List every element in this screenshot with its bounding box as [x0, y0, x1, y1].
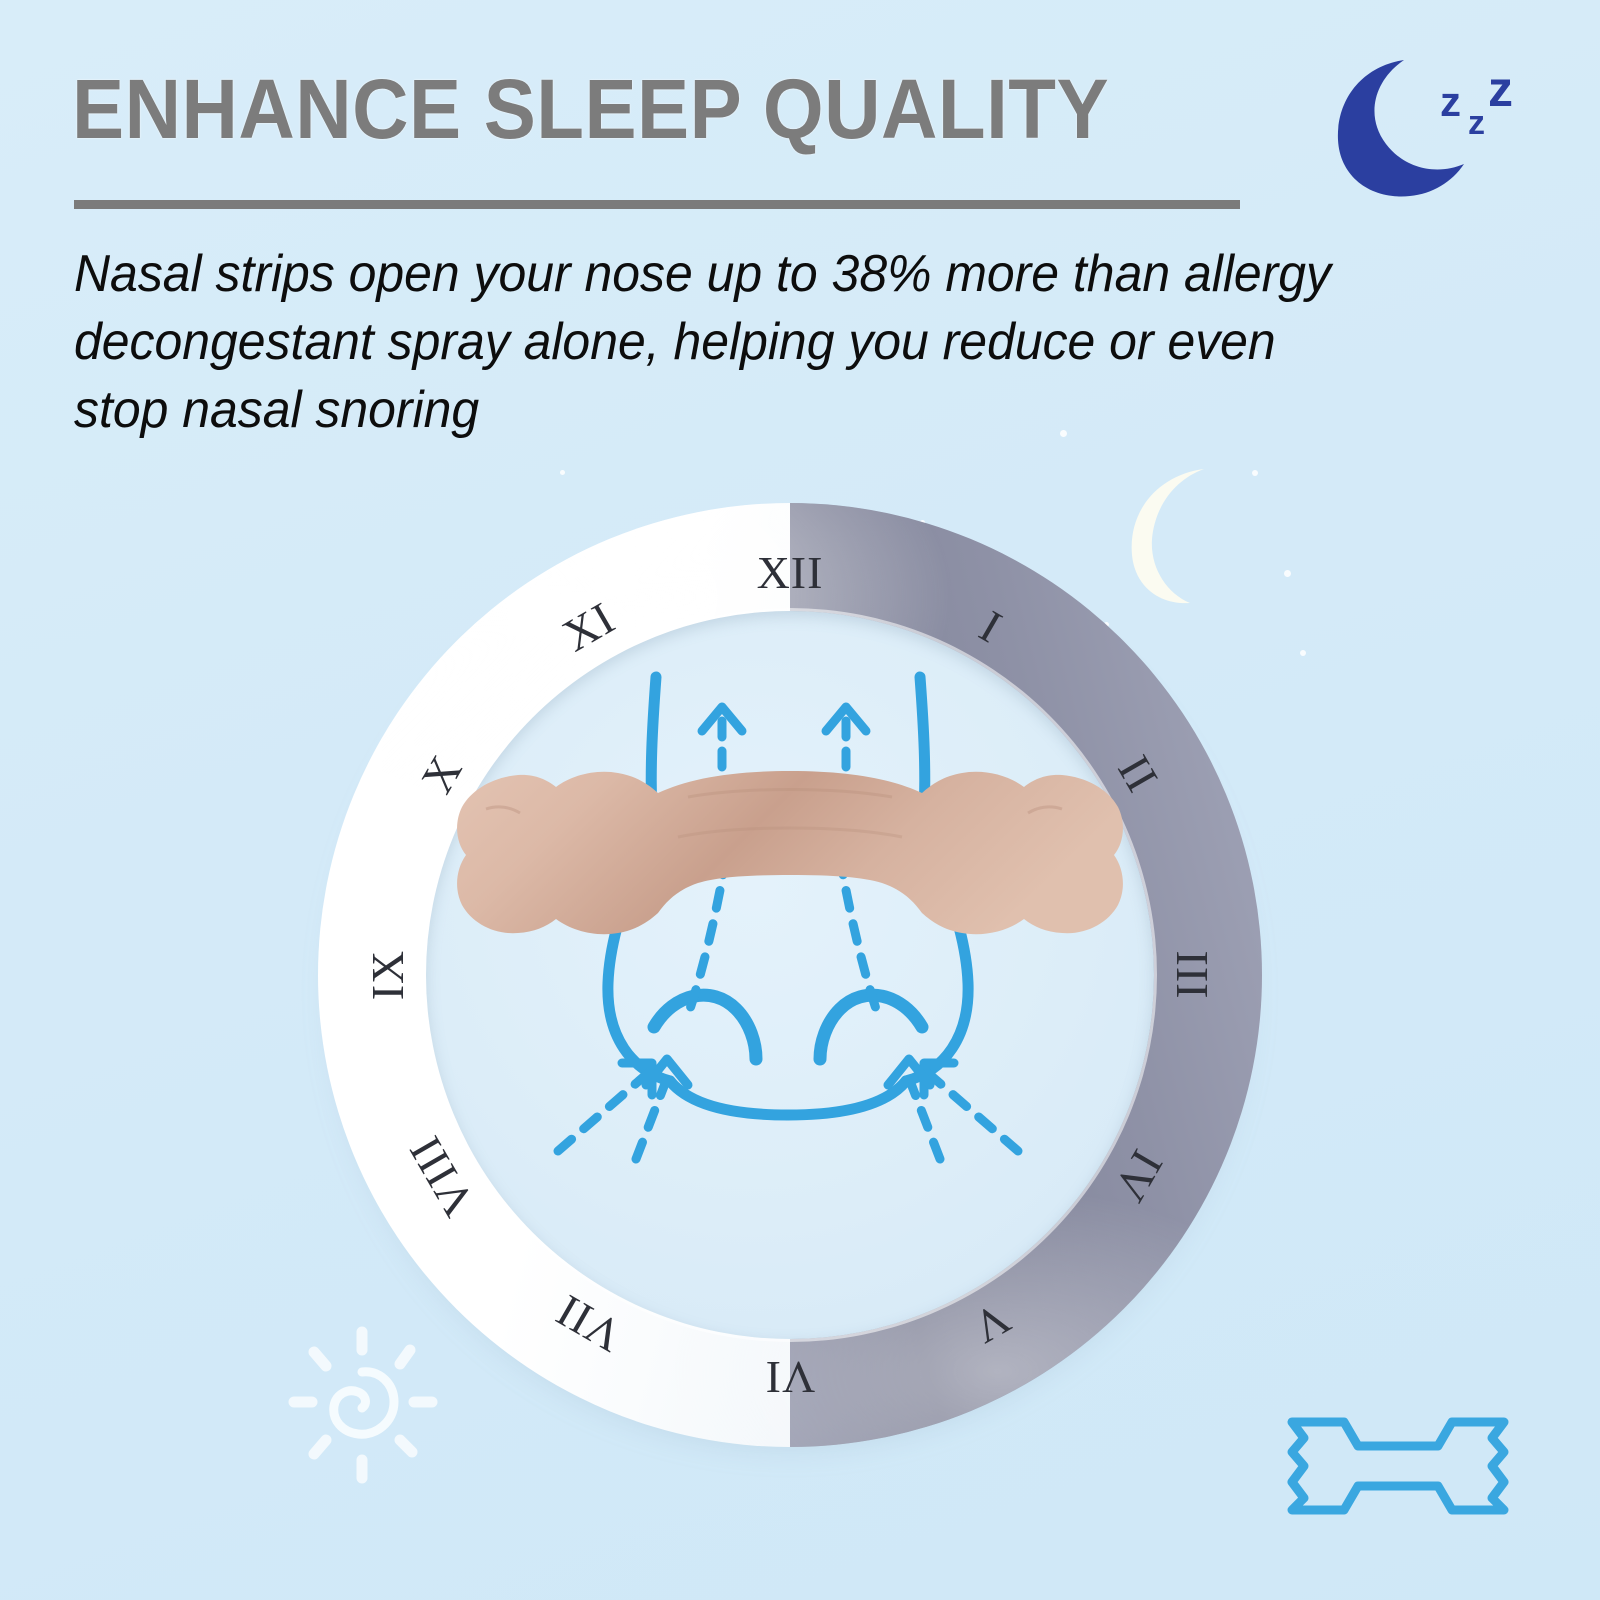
- nasal-strip: [457, 771, 1123, 934]
- spiral-sun-doodle: [262, 1312, 462, 1502]
- description-line-1: Nasal strips open your nose up to 38% mo…: [74, 240, 1312, 308]
- clock-numeral-label: III: [1169, 915, 1215, 1035]
- star-dot: [1300, 650, 1306, 656]
- svg-text:z: z: [1440, 78, 1461, 125]
- clock-numeral-label: VI: [730, 1354, 850, 1400]
- clock-numeral-label: IX: [365, 915, 411, 1035]
- star-dot: [1284, 570, 1291, 577]
- description-line-3: stop nasal snoring: [74, 376, 1312, 444]
- clock-graphic: XIIIIIIIIIVVVIVIIVIIIIXXXI: [318, 503, 1262, 1447]
- nasal-strip-on-nose-illustration: [426, 611, 1154, 1339]
- sleeping-moon-icon: z z z: [1318, 48, 1518, 208]
- title-divider: [74, 200, 1240, 209]
- svg-text:z: z: [1488, 61, 1513, 117]
- star-dot: [1060, 430, 1067, 437]
- nasal-strip-outline-icon: [1272, 1400, 1524, 1530]
- description-line-2: decongestant spray alone, helping you re…: [74, 308, 1312, 376]
- infographic-canvas: ENHANCE SLEEP QUALITY z z z Nasal strips…: [0, 0, 1600, 1600]
- star-dot: [560, 470, 565, 475]
- svg-text:z: z: [1468, 104, 1485, 142]
- description-text: Nasal strips open your nose up to 38% mo…: [74, 240, 1312, 444]
- page-title: ENHANCE SLEEP QUALITY: [72, 62, 1188, 156]
- clock-numeral-label: XII: [730, 550, 850, 596]
